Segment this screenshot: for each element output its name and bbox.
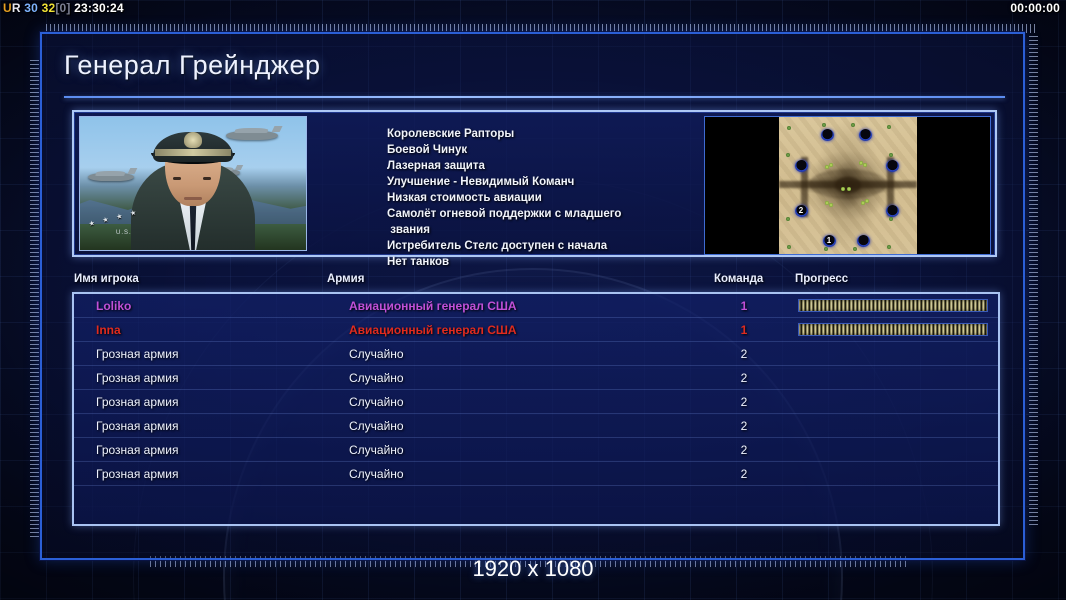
- portrait-mouth: [184, 197, 202, 200]
- status-flag-r: R: [12, 1, 21, 15]
- table-row[interactable]: LolikoАвиационный генерал США1: [74, 294, 998, 318]
- page-title: Генерал Грейнджер: [64, 44, 1001, 86]
- eagle-insignia-icon: [184, 132, 202, 148]
- start-position: [886, 205, 899, 217]
- column-header-army: Армия: [327, 272, 364, 286]
- table-row[interactable]: Грозная армияСлучайно2: [74, 462, 998, 486]
- player-table-header: Имя игрока Армия Команда Прогресс: [74, 272, 999, 290]
- table-row[interactable]: Грозная армияСлучайно2: [74, 390, 998, 414]
- map-preview[interactable]: 2 1: [704, 116, 991, 255]
- row-separator: [74, 485, 998, 486]
- ability-line: Боевой Чинук: [387, 142, 687, 158]
- cell-player-name: Грозная армия: [96, 462, 178, 486]
- start-position-2: 2: [795, 205, 808, 217]
- panel-header: Генерал Грейнджер: [64, 44, 1001, 88]
- cell-team: 2: [734, 366, 754, 390]
- portrait-eye-right: [203, 177, 211, 180]
- status-bar: UR 30 32[0] 23:30:24 00:00:00: [0, 0, 1066, 17]
- status-num-1: 30: [24, 1, 38, 15]
- ability-line: Улучшение - Невидимый Команч: [387, 174, 687, 190]
- table-row[interactable]: Грозная армияСлучайно2: [74, 342, 998, 366]
- column-header-progress: Прогресс: [795, 272, 848, 286]
- general-ability-list: Королевские Рапторы Боевой Чинук Лазерна…: [387, 126, 687, 270]
- cell-player-name: Грозная армия: [96, 366, 178, 390]
- cell-army: Авиационный генерал США: [349, 294, 517, 318]
- cell-army: Случайно: [349, 462, 404, 486]
- start-position: [857, 235, 870, 247]
- map-image: 2 1: [779, 117, 917, 254]
- ability-line: Королевские Рапторы: [387, 126, 687, 142]
- status-flag-u: U: [3, 1, 12, 15]
- cell-army: Случайно: [349, 342, 404, 366]
- status-bar-left: UR 30 32[0] 23:30:24: [3, 0, 124, 17]
- resolution-label: 1920 x 1080: [0, 554, 1066, 584]
- title-divider: [64, 96, 1005, 98]
- cell-player-name: Грозная армия: [96, 414, 178, 438]
- ability-line: Низкая стоимость авиации: [387, 190, 687, 206]
- cell-player-name: Грозная армия: [96, 438, 178, 462]
- cell-team: 1: [734, 318, 754, 342]
- start-position: [821, 129, 834, 141]
- cell-army: Случайно: [349, 390, 404, 414]
- frame-ruler-right: [1029, 36, 1038, 526]
- column-header-player-name: Имя игрока: [74, 272, 139, 286]
- status-bracket: [0]: [55, 1, 70, 15]
- cell-army: Случайно: [349, 438, 404, 462]
- cell-team: 2: [734, 414, 754, 438]
- us-collar-insignia: U.S.: [116, 230, 132, 236]
- status-clock: 23:30:24: [74, 1, 124, 15]
- cell-army: Авиационный генерал США: [349, 318, 517, 342]
- start-position: [886, 160, 899, 172]
- progress-bar: [798, 323, 988, 336]
- cell-team: 2: [734, 438, 754, 462]
- cell-player-name: Loliko: [96, 294, 131, 318]
- status-timer: 00:00:00: [1010, 0, 1060, 17]
- column-header-team: Команда: [714, 272, 763, 286]
- ability-line: Самолёт огневой поддержки с младшего: [387, 206, 687, 222]
- cell-team: 2: [734, 462, 754, 486]
- frame-ruler-left: [30, 60, 39, 540]
- cell-army: Случайно: [349, 414, 404, 438]
- start-position-1: 1: [823, 235, 836, 247]
- aircraft-icon-2: [226, 131, 278, 140]
- table-row[interactable]: InnaАвиационный генерал США1: [74, 318, 998, 342]
- status-num-2: 32: [42, 1, 56, 15]
- ability-line: Истребитель Стелс доступен с начала: [387, 238, 687, 254]
- ability-line: звания: [387, 222, 687, 238]
- cell-team: 2: [734, 342, 754, 366]
- portrait-cap-band: [155, 149, 231, 156]
- main-panel: Генерал Грейнджер ★ ★ ★ ★ U.S.: [40, 32, 1025, 560]
- player-table: LolikoАвиационный генерал США1InnaАвиаци…: [72, 292, 1000, 526]
- table-row[interactable]: Грозная армияСлучайно2: [74, 366, 998, 390]
- table-row[interactable]: Грозная армияСлучайно2: [74, 438, 998, 462]
- ability-line: Нет танков: [387, 254, 687, 270]
- cell-player-name: Inna: [96, 318, 121, 342]
- cell-team: 1: [734, 294, 754, 318]
- general-portrait: ★ ★ ★ ★ U.S.: [79, 116, 307, 251]
- cell-army: Случайно: [349, 366, 404, 390]
- table-row[interactable]: Грозная армияСлучайно2: [74, 414, 998, 438]
- start-position: [795, 160, 808, 172]
- start-position: [859, 129, 872, 141]
- ability-line: Лазерная защита: [387, 158, 687, 174]
- cell-player-name: Грозная армия: [96, 342, 178, 366]
- cell-player-name: Грозная армия: [96, 390, 178, 414]
- progress-bar: [798, 299, 988, 312]
- general-info-box: ★ ★ ★ ★ U.S. Королевские Рапторы Боевой …: [72, 110, 997, 257]
- aircraft-icon-1: [88, 173, 134, 181]
- portrait-eye-left: [173, 177, 181, 180]
- cell-team: 2: [734, 390, 754, 414]
